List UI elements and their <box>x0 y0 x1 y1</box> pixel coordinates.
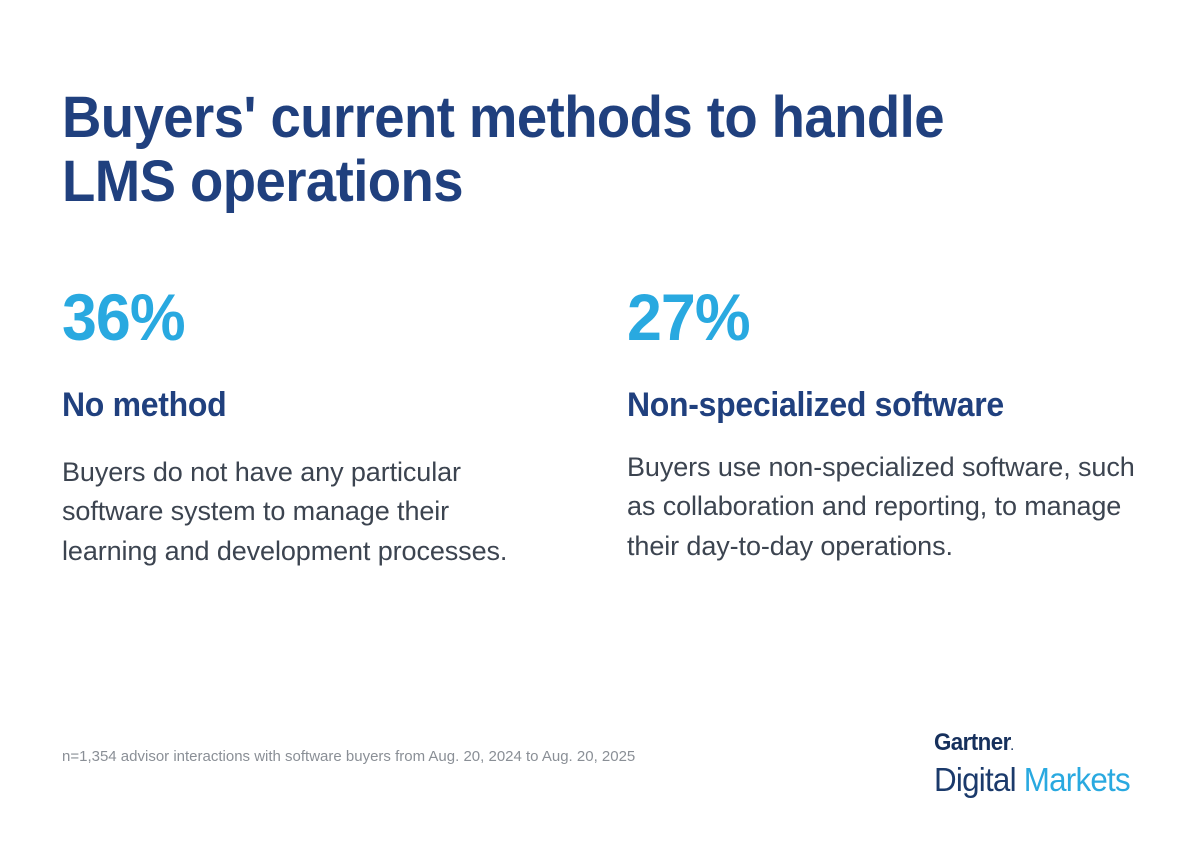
stat-heading-non-specialized-software: Non-specialized software <box>627 350 1109 424</box>
stat-card-no-method: 36% No method Buyers do not have any par… <box>62 284 627 571</box>
logo-digital-text: Digital <box>934 761 1016 798</box>
stat-value-36: 36% <box>62 284 518 350</box>
stat-description-no-method: Buyers do not have any particular softwa… <box>62 424 542 571</box>
title-block: Buyers' current methods to handle LMS op… <box>62 86 1122 214</box>
slide-canvas: Buyers' current methods to handle LMS op… <box>0 0 1200 850</box>
page-title: Buyers' current methods to handle LMS op… <box>62 86 1058 214</box>
logo-digital-markets-wordmark: Digital Markets <box>934 763 1130 796</box>
stats-columns: 36% No method Buyers do not have any par… <box>62 284 1140 571</box>
gartner-digital-markets-logo: Gartner. Digital Markets <box>934 731 1140 796</box>
stat-heading-no-method: No method <box>62 350 513 424</box>
logo-markets-text: Markets <box>1024 761 1130 798</box>
source-footnote: n=1,354 advisor interactions with softwa… <box>62 748 635 765</box>
stat-card-non-specialized-software: 27% Non-specialized software Buyers use … <box>627 284 1140 566</box>
logo-gartner-wordmark: Gartner. <box>934 731 1126 755</box>
logo-registered-mark: . <box>1010 741 1012 753</box>
logo-gartner-text: Gartner <box>934 729 1011 756</box>
stat-description-non-specialized-software: Buyers use non-specialized software, suc… <box>627 424 1140 566</box>
stat-value-27: 27% <box>627 284 1114 350</box>
